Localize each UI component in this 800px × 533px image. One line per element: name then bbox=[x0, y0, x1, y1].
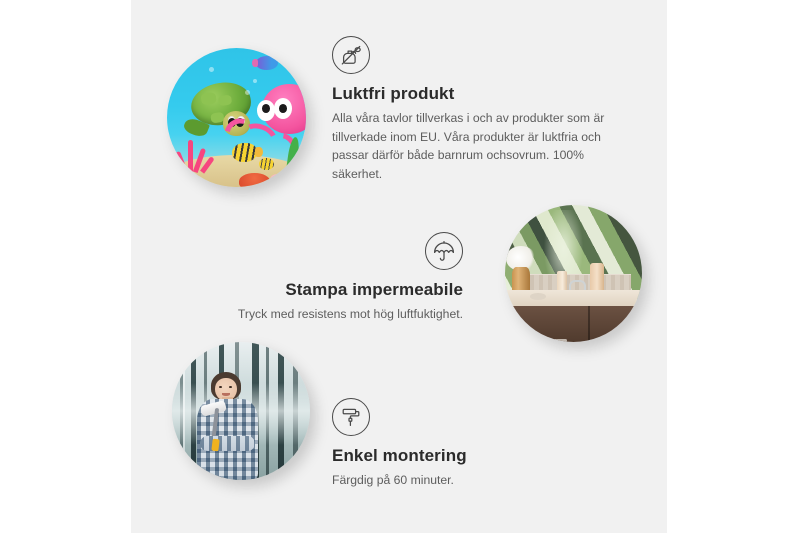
ocean-illustration bbox=[167, 48, 306, 187]
feature-body: Alla våra tavlor tillverkas i och av pro… bbox=[332, 109, 624, 183]
door-handle bbox=[606, 336, 609, 342]
paint-roller-grip bbox=[211, 438, 219, 451]
wall-edge bbox=[183, 353, 185, 469]
wooden-vanity bbox=[513, 306, 642, 342]
no-odour-perfume-icon bbox=[332, 36, 370, 74]
octopus-eye bbox=[274, 98, 292, 119]
coral bbox=[175, 131, 217, 173]
bathroom-illustration bbox=[505, 205, 642, 342]
umbrella-icon bbox=[425, 232, 463, 270]
soap-dish bbox=[530, 293, 546, 300]
bubble-icon bbox=[209, 67, 214, 72]
feature-title: Stampa impermeabile bbox=[215, 280, 463, 300]
woman-illustration bbox=[172, 342, 310, 480]
product-photo-ocean[interactable] bbox=[167, 48, 306, 187]
product-photo-bathroom[interactable] bbox=[505, 205, 642, 342]
feature-body: Färgdig på 60 minuter. bbox=[332, 471, 572, 490]
feature-odourless: Luktfri produkt Alla våra tavlor tillver… bbox=[332, 36, 624, 183]
product-photo-woman[interactable] bbox=[172, 342, 310, 480]
woman-arm bbox=[200, 436, 255, 451]
feature-title: Enkel montering bbox=[332, 446, 572, 466]
feature-body: Tryck med resistens mot hög luftfuktighe… bbox=[215, 305, 463, 324]
feature-title: Luktfri produkt bbox=[332, 84, 624, 104]
starfish-icon bbox=[270, 174, 289, 187]
crab-icon bbox=[239, 173, 270, 187]
paint-roller-icon bbox=[332, 398, 370, 436]
feature-assembly: Enkel montering Färgdig på 60 minuter. bbox=[332, 398, 572, 490]
yellow-fish-icon bbox=[232, 143, 257, 162]
screenshot-root: Luktfri produkt Alla våra tavlor tillver… bbox=[0, 0, 800, 533]
feature-waterproof: Stampa impermeabile Tryck med resistens … bbox=[215, 232, 463, 324]
drawer-handle bbox=[531, 339, 567, 342]
